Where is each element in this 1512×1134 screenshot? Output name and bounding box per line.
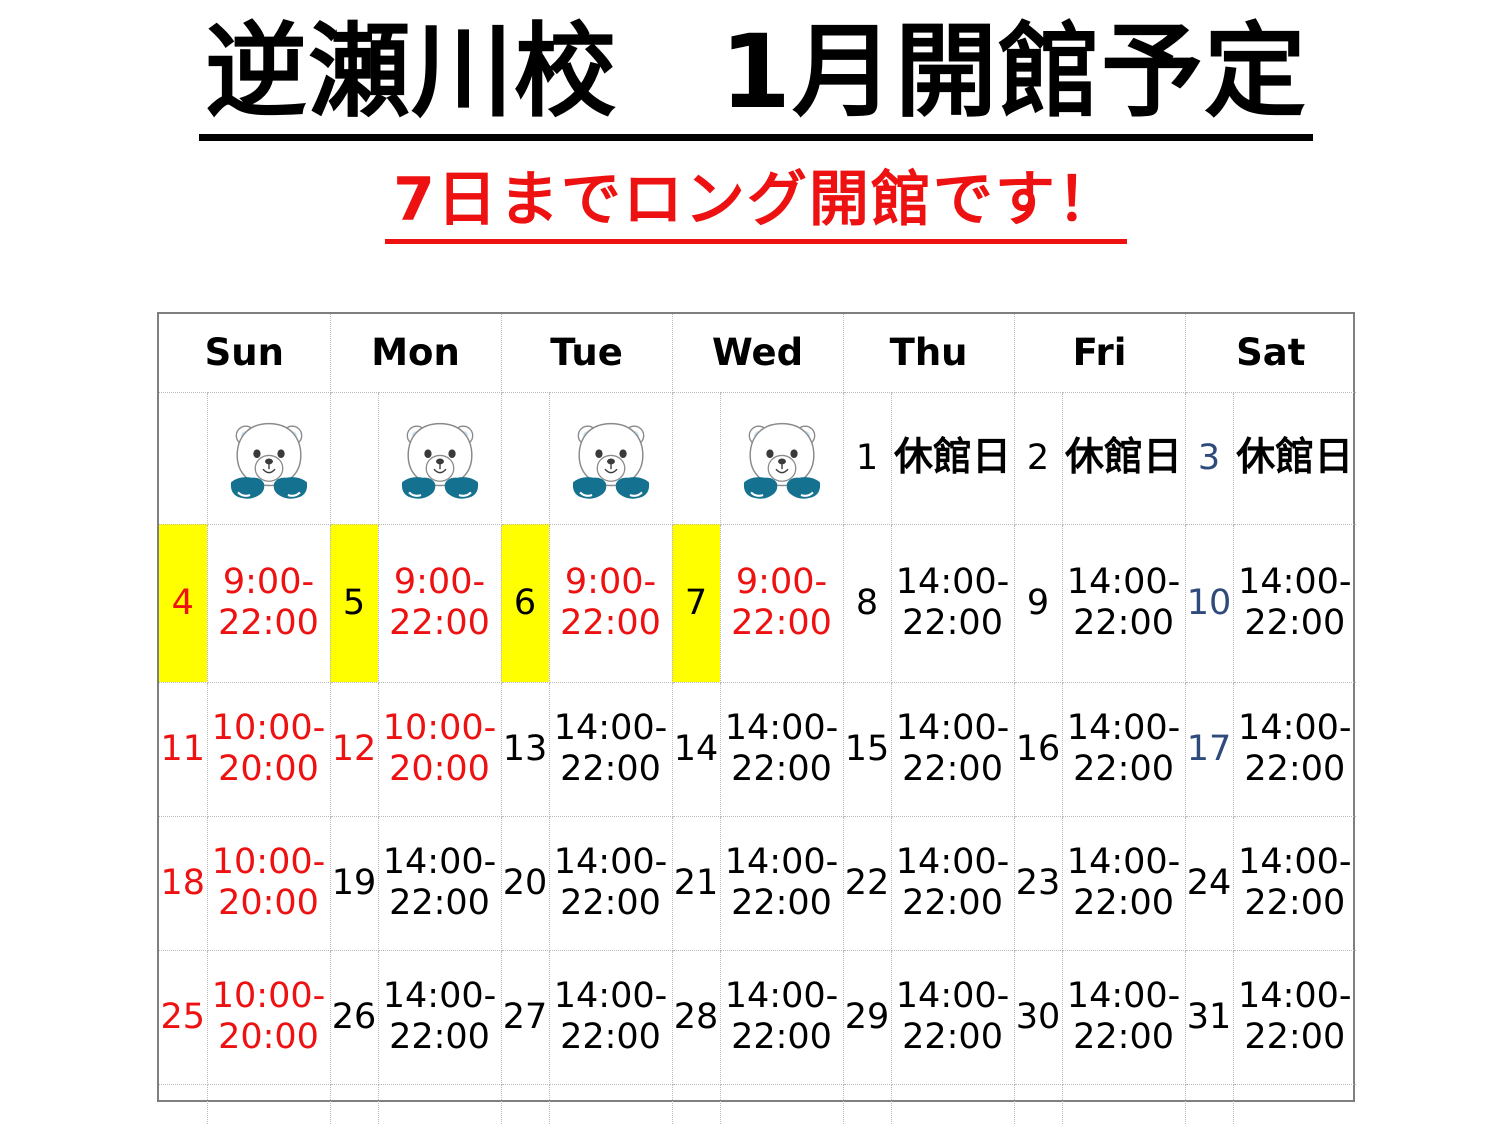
open-hours-29: 14:00- 22:00 bbox=[891, 950, 1014, 1084]
day-number-10[interactable]: 10 bbox=[1185, 524, 1233, 682]
day-number-29[interactable]: 29 bbox=[843, 950, 891, 1084]
spacer-cell bbox=[207, 1084, 330, 1124]
day-number-21[interactable]: 21 bbox=[672, 816, 720, 950]
open-hours-25: 10:00- 20:00 bbox=[207, 950, 330, 1084]
page-title: 逆瀬川校 1月開館予定 bbox=[199, 16, 1313, 141]
open-hours-15: 14:00- 22:00 bbox=[891, 682, 1014, 816]
day-number-9[interactable]: 9 bbox=[1014, 524, 1062, 682]
spacer-cell bbox=[843, 1084, 891, 1124]
polar-bear-icon bbox=[397, 415, 483, 501]
spacer-cell bbox=[1233, 1084, 1356, 1124]
mascot-cell bbox=[378, 392, 501, 524]
day-number-empty[interactable] bbox=[330, 392, 378, 524]
spacer-cell bbox=[1014, 1084, 1062, 1124]
open-hours-22: 14:00- 22:00 bbox=[891, 816, 1014, 950]
spacer-cell bbox=[501, 1084, 549, 1124]
day-number-20[interactable]: 20 bbox=[501, 816, 549, 950]
day-number-30[interactable]: 30 bbox=[1014, 950, 1062, 1084]
weekday-header-mon: Mon bbox=[330, 314, 501, 392]
calendar-week-row: 1110:00- 20:001210:00- 20:001314:00- 22:… bbox=[159, 682, 1356, 816]
closed-label-3: 休館日 bbox=[1233, 392, 1356, 524]
calendar-body: 1休館日2休館日3休館日49:00- 22:0059:00- 22:0069:0… bbox=[159, 392, 1356, 1124]
weekday-header-tue: Tue bbox=[501, 314, 672, 392]
open-hours-28: 14:00- 22:00 bbox=[720, 950, 843, 1084]
day-number-6[interactable]: 6 bbox=[501, 524, 549, 682]
open-hours-26: 14:00- 22:00 bbox=[378, 950, 501, 1084]
polar-bear-icon bbox=[226, 415, 312, 501]
day-number-25[interactable]: 25 bbox=[159, 950, 207, 1084]
open-hours-23: 14:00- 22:00 bbox=[1062, 816, 1185, 950]
open-hours-12: 10:00- 20:00 bbox=[378, 682, 501, 816]
spacer-cell bbox=[1062, 1084, 1185, 1124]
day-number-11[interactable]: 11 bbox=[159, 682, 207, 816]
spacer-cell bbox=[672, 1084, 720, 1124]
day-number-27[interactable]: 27 bbox=[501, 950, 549, 1084]
spacer-cell bbox=[720, 1084, 843, 1124]
open-hours-5: 9:00- 22:00 bbox=[378, 524, 501, 682]
calendar-table: SunMonTueWedThuFriSat 1休館日2休館日3休館日49:00-… bbox=[159, 314, 1356, 1124]
weekday-header-thu: Thu bbox=[843, 314, 1014, 392]
day-number-26[interactable]: 26 bbox=[330, 950, 378, 1084]
day-number-14[interactable]: 14 bbox=[672, 682, 720, 816]
day-number-12[interactable]: 12 bbox=[330, 682, 378, 816]
open-hours-4: 9:00- 22:00 bbox=[207, 524, 330, 682]
spacer-cell bbox=[159, 1084, 207, 1124]
open-hours-11: 10:00- 20:00 bbox=[207, 682, 330, 816]
calendar-bottom-spacer bbox=[159, 1084, 1356, 1124]
spacer-cell bbox=[891, 1084, 1014, 1124]
day-number-22[interactable]: 22 bbox=[843, 816, 891, 950]
day-number-31[interactable]: 31 bbox=[1185, 950, 1233, 1084]
open-hours-27: 14:00- 22:00 bbox=[549, 950, 672, 1084]
open-hours-17: 14:00- 22:00 bbox=[1233, 682, 1356, 816]
open-hours-21: 14:00- 22:00 bbox=[720, 816, 843, 950]
open-hours-19: 14:00- 22:00 bbox=[378, 816, 501, 950]
day-number-13[interactable]: 13 bbox=[501, 682, 549, 816]
weekday-header-fri: Fri bbox=[1014, 314, 1185, 392]
day-number-23[interactable]: 23 bbox=[1014, 816, 1062, 950]
day-number-2[interactable]: 2 bbox=[1014, 392, 1062, 524]
day-number-17[interactable]: 17 bbox=[1185, 682, 1233, 816]
closed-label-2: 休館日 bbox=[1062, 392, 1185, 524]
polar-bear-icon bbox=[568, 415, 654, 501]
calendar-week-row: 49:00- 22:0059:00- 22:0069:00- 22:0079:0… bbox=[159, 524, 1356, 682]
weekday-header-wed: Wed bbox=[672, 314, 843, 392]
open-hours-14: 14:00- 22:00 bbox=[720, 682, 843, 816]
day-number-empty[interactable] bbox=[501, 392, 549, 524]
weekday-header-sat: Sat bbox=[1185, 314, 1356, 392]
open-hours-20: 14:00- 22:00 bbox=[549, 816, 672, 950]
day-number-empty[interactable] bbox=[672, 392, 720, 524]
weekday-header-sun: Sun bbox=[159, 314, 330, 392]
day-number-4[interactable]: 4 bbox=[159, 524, 207, 682]
day-number-8[interactable]: 8 bbox=[843, 524, 891, 682]
spacer-cell bbox=[378, 1084, 501, 1124]
calendar: SunMonTueWedThuFriSat 1休館日2休館日3休館日49:00-… bbox=[157, 312, 1355, 1102]
long-hours-notice: 7日までロング開館です！ bbox=[385, 167, 1127, 244]
mascot-cell bbox=[207, 392, 330, 524]
day-number-16[interactable]: 16 bbox=[1014, 682, 1062, 816]
day-number-24[interactable]: 24 bbox=[1185, 816, 1233, 950]
open-hours-10: 14:00- 22:00 bbox=[1233, 524, 1356, 682]
spacer-cell bbox=[549, 1084, 672, 1124]
closed-label-1: 休館日 bbox=[891, 392, 1014, 524]
open-hours-8: 14:00- 22:00 bbox=[891, 524, 1014, 682]
subtitle-block: 7日までロング開館です！ bbox=[0, 167, 1512, 244]
open-hours-13: 14:00- 22:00 bbox=[549, 682, 672, 816]
day-number-7[interactable]: 7 bbox=[672, 524, 720, 682]
open-hours-31: 14:00- 22:00 bbox=[1233, 950, 1356, 1084]
calendar-week-row: 1休館日2休館日3休館日 bbox=[159, 392, 1356, 524]
day-number-28[interactable]: 28 bbox=[672, 950, 720, 1084]
calendar-week-row: 1810:00- 20:001914:00- 22:002014:00- 22:… bbox=[159, 816, 1356, 950]
day-number-18[interactable]: 18 bbox=[159, 816, 207, 950]
spacer-cell bbox=[1185, 1084, 1233, 1124]
open-hours-7: 9:00- 22:00 bbox=[720, 524, 843, 682]
open-hours-30: 14:00- 22:00 bbox=[1062, 950, 1185, 1084]
title-block: 逆瀬川校 1月開館予定 bbox=[0, 0, 1512, 141]
mascot-cell bbox=[549, 392, 672, 524]
open-hours-9: 14:00- 22:00 bbox=[1062, 524, 1185, 682]
day-number-19[interactable]: 19 bbox=[330, 816, 378, 950]
open-hours-16: 14:00- 22:00 bbox=[1062, 682, 1185, 816]
calendar-week-row: 2510:00- 20:002614:00- 22:002714:00- 22:… bbox=[159, 950, 1356, 1084]
day-number-3[interactable]: 3 bbox=[1185, 392, 1233, 524]
day-number-5[interactable]: 5 bbox=[330, 524, 378, 682]
open-hours-6: 9:00- 22:00 bbox=[549, 524, 672, 682]
spacer-cell bbox=[330, 1084, 378, 1124]
day-number-1[interactable]: 1 bbox=[843, 392, 891, 524]
day-number-15[interactable]: 15 bbox=[843, 682, 891, 816]
polar-bear-icon bbox=[739, 415, 825, 501]
calendar-header-row: SunMonTueWedThuFriSat bbox=[159, 314, 1356, 392]
open-hours-24: 14:00- 22:00 bbox=[1233, 816, 1356, 950]
day-number-empty[interactable] bbox=[159, 392, 207, 524]
mascot-cell bbox=[720, 392, 843, 524]
open-hours-18: 10:00- 20:00 bbox=[207, 816, 330, 950]
